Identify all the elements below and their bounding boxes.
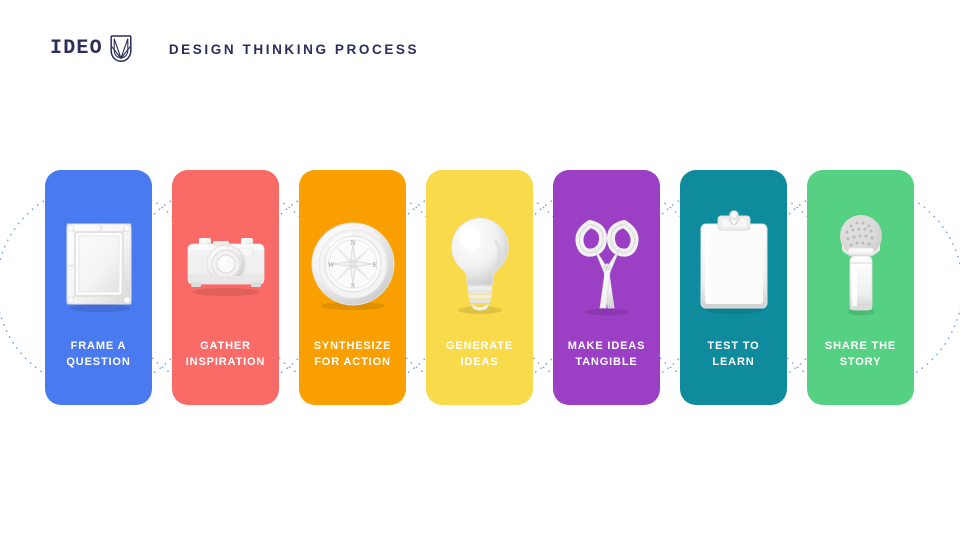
clipboard-icon xyxy=(680,204,787,324)
process-card-4[interactable]: GENERATE IDEAS xyxy=(426,170,533,405)
ideo-u-logo[interactable]: IDEO xyxy=(50,34,133,64)
camera-icon xyxy=(172,204,279,324)
process-card-label: MAKE IDEAS TANGIBLE xyxy=(557,338,656,370)
process-card-6[interactable]: TEST TO LEARN xyxy=(680,170,787,405)
process-card-label: GATHER INSPIRATION xyxy=(176,338,275,370)
microphone-icon xyxy=(818,210,904,318)
logo-wordmark: IDEO xyxy=(50,39,103,59)
scissors-icon xyxy=(553,204,660,324)
svg-text:E: E xyxy=(372,261,376,269)
clipboard-icon xyxy=(691,210,777,318)
process-card-label: SHARE THE STORY xyxy=(811,338,910,370)
process-card-5[interactable]: MAKE IDEAS TANGIBLE xyxy=(553,170,660,405)
process-card-3[interactable]: N S E W SYNTHESIZE FOR ACTION xyxy=(299,170,406,405)
process-card-label: SYNTHESIZE FOR ACTION xyxy=(303,338,402,370)
process-card-row: FRAME A QUESTION xyxy=(45,170,915,405)
picture-frame-icon xyxy=(45,204,152,324)
camera-icon xyxy=(183,210,269,318)
lightbulb-icon xyxy=(426,204,533,324)
scissors-icon xyxy=(564,210,650,318)
process-card-label: TEST TO LEARN xyxy=(684,338,783,370)
header-bar: IDEO DESIGN THINKING PROCESS xyxy=(50,34,419,64)
svg-text:W: W xyxy=(327,261,334,269)
page-title: DESIGN THINKING PROCESS xyxy=(169,42,419,57)
process-card-label: GENERATE IDEAS xyxy=(430,338,529,370)
process-card-label: FRAME A QUESTION xyxy=(49,338,148,370)
process-card-7[interactable]: SHARE THE STORY xyxy=(807,170,914,405)
svg-text:S: S xyxy=(351,282,355,290)
picture-frame-icon xyxy=(56,210,142,318)
process-card-2[interactable]: GATHER INSPIRATION xyxy=(172,170,279,405)
ideo-u-mark-icon xyxy=(109,34,133,64)
lightbulb-icon xyxy=(437,210,523,318)
compass-icon: N S E W xyxy=(299,204,406,324)
svg-text:N: N xyxy=(350,239,355,247)
compass-icon: N S E W xyxy=(310,210,396,318)
process-card-1[interactable]: FRAME A QUESTION xyxy=(45,170,152,405)
microphone-icon xyxy=(807,204,914,324)
